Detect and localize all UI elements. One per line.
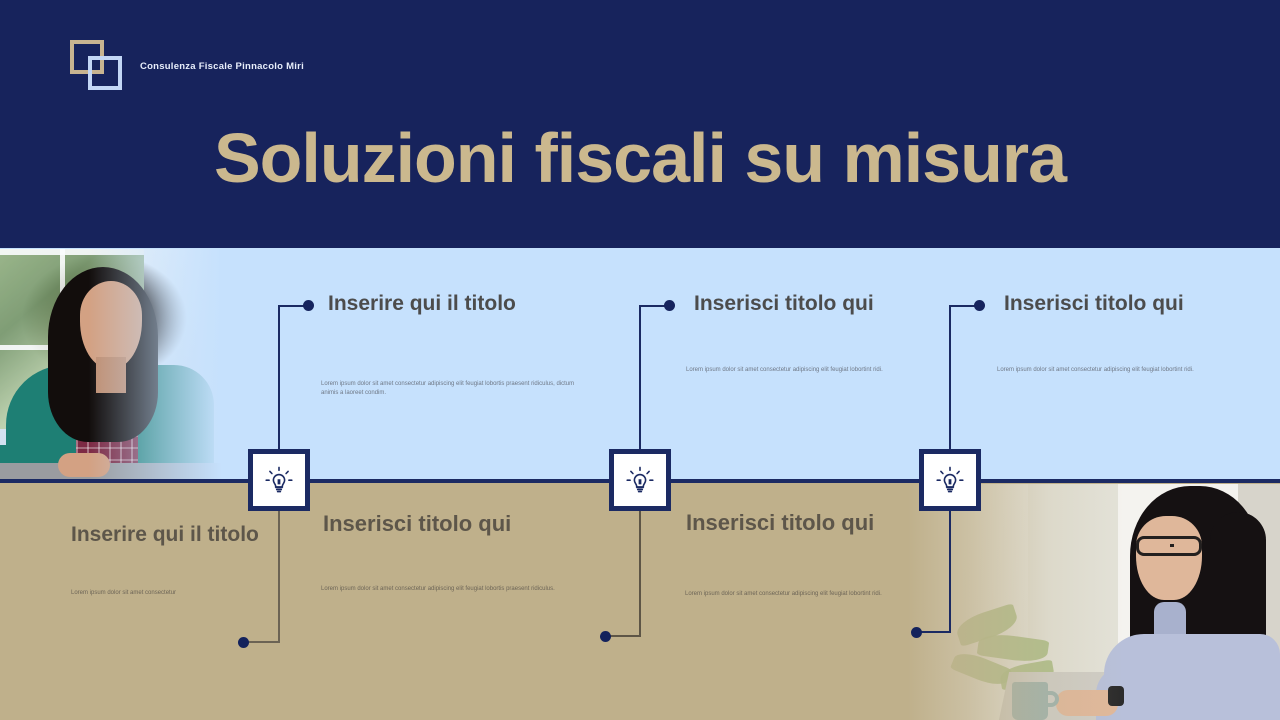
overlapping-squares-logo-icon (70, 40, 126, 92)
timeline-bottom-title-1: Inserire qui il titolo (71, 523, 259, 547)
connector-dot-bottom-1 (238, 637, 249, 648)
connector-dot-bottom-3 (911, 627, 922, 638)
photo-right (908, 484, 1280, 720)
timeline-bottom-title-2: Inserisci titolo qui (323, 511, 511, 537)
timeline-top-body-1: Lorem ipsum dolor sit amet consectetur a… (321, 380, 577, 398)
timeline-top-body-2: Lorem ipsum dolor sit amet consectetur a… (686, 366, 914, 375)
photo-right-fade (908, 484, 1280, 720)
timeline-bottom-title-3: Inserisci titolo qui (686, 510, 874, 536)
timeline-top-title-3: Inserisci titolo qui (1004, 292, 1184, 316)
company-name: Consulenza Fiscale Pinnacolo Miri (140, 61, 304, 72)
photo-left-fade (0, 249, 222, 479)
connector-dot-bottom-2 (600, 631, 611, 642)
slide: Consulenza Fiscale Pinnacolo Miri Soluzi… (0, 0, 1280, 720)
lightbulb-icon (933, 463, 967, 497)
connector-dot-top-2 (664, 300, 675, 311)
timeline-marker-2[interactable] (609, 449, 671, 511)
brand-logo[interactable]: Consulenza Fiscale Pinnacolo Miri (70, 40, 304, 92)
timeline-marker-1[interactable] (248, 449, 310, 511)
timeline-top-body-3: Lorem ipsum dolor sit amet consectetur a… (997, 366, 1225, 375)
lightbulb-icon (262, 463, 296, 497)
lightbulb-icon (623, 463, 657, 497)
timeline-top-title-2: Inserisci titolo qui (694, 292, 874, 316)
logo-square-blue (88, 56, 122, 90)
photo-left (0, 249, 222, 479)
timeline-bottom-body-1: Lorem ipsum dolor sit amet consectetur (71, 589, 283, 598)
page-title: Soluzioni fiscali su misura (0, 123, 1280, 193)
timeline-marker-3[interactable] (919, 449, 981, 511)
connector-dot-top-3 (974, 300, 985, 311)
connector-dot-top-1 (303, 300, 314, 311)
timeline-bottom-body-2: Lorem ipsum dolor sit amet consectetur a… (321, 585, 587, 594)
timeline-bottom-body-3: Lorem ipsum dolor sit amet consectetur a… (685, 590, 913, 599)
timeline-top-title-1: Inserire qui il titolo (328, 292, 516, 316)
slide-header: Consulenza Fiscale Pinnacolo Miri Soluzi… (0, 0, 1280, 248)
